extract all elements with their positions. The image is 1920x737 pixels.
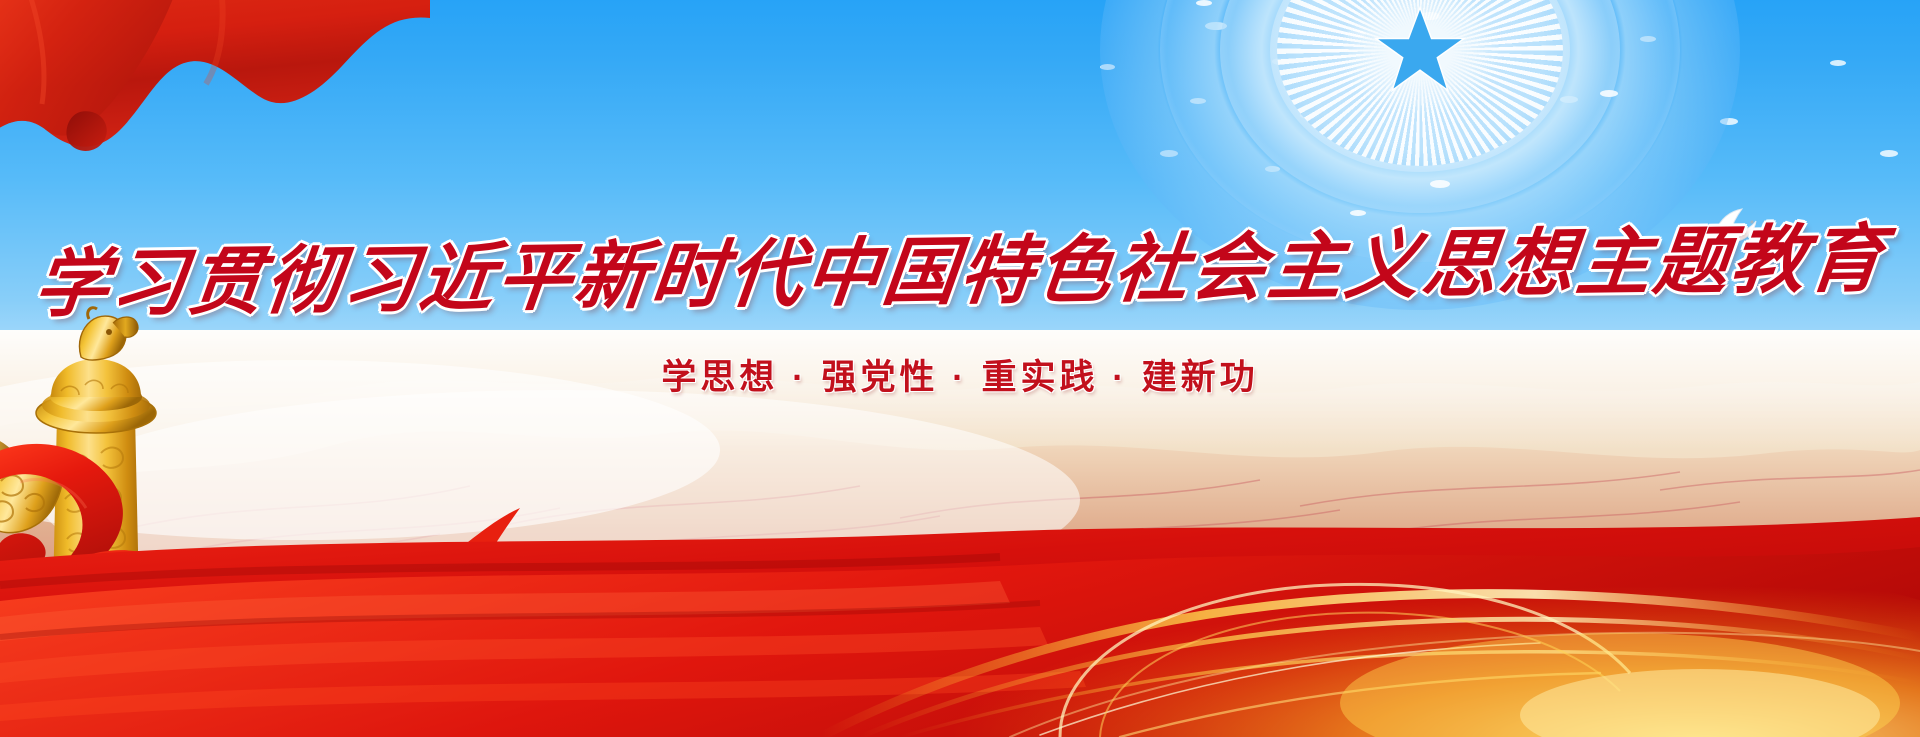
propaganda-banner: 学习贯彻习近平新时代中国特色社会主义思想主题教育 学思想 · 强党性 · 重实践… (0, 0, 1920, 737)
drape-svg (0, 477, 1920, 737)
subtitle-container: 学思想 · 强党性 · 重实践 · 建新功 (0, 360, 1920, 395)
page-subtitle: 学思想 · 强党性 · 重实践 · 建新功 (661, 360, 1258, 395)
bottom-red-drape (0, 477, 1920, 737)
red-flag-graphic (0, 0, 430, 190)
headline-container: 学习贯彻习近平新时代中国特色社会主义思想主题教育 (0, 236, 1920, 310)
page-title: 学习贯彻习近平新时代中国特色社会主义思想主题教育 (30, 223, 1889, 323)
